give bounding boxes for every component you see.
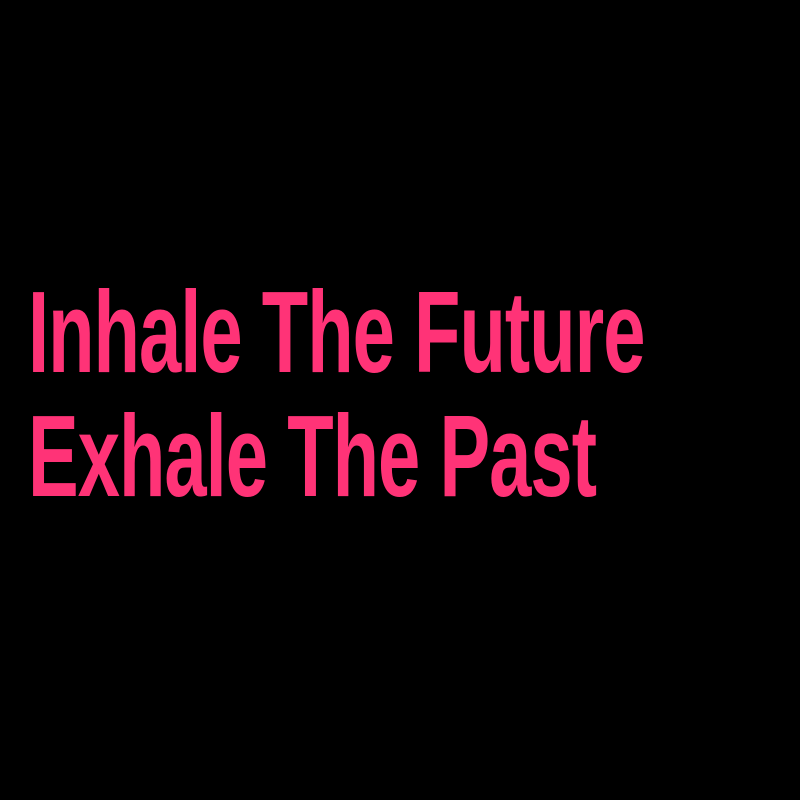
quote-text-block: Inhale The Future Exhale The Past (28, 272, 788, 516)
quote-line-1: Inhale The Future (28, 272, 526, 392)
quote-line-2: Exhale The Past (28, 396, 526, 516)
poster-canvas: Inhale The Future Exhale The Past (0, 0, 800, 800)
